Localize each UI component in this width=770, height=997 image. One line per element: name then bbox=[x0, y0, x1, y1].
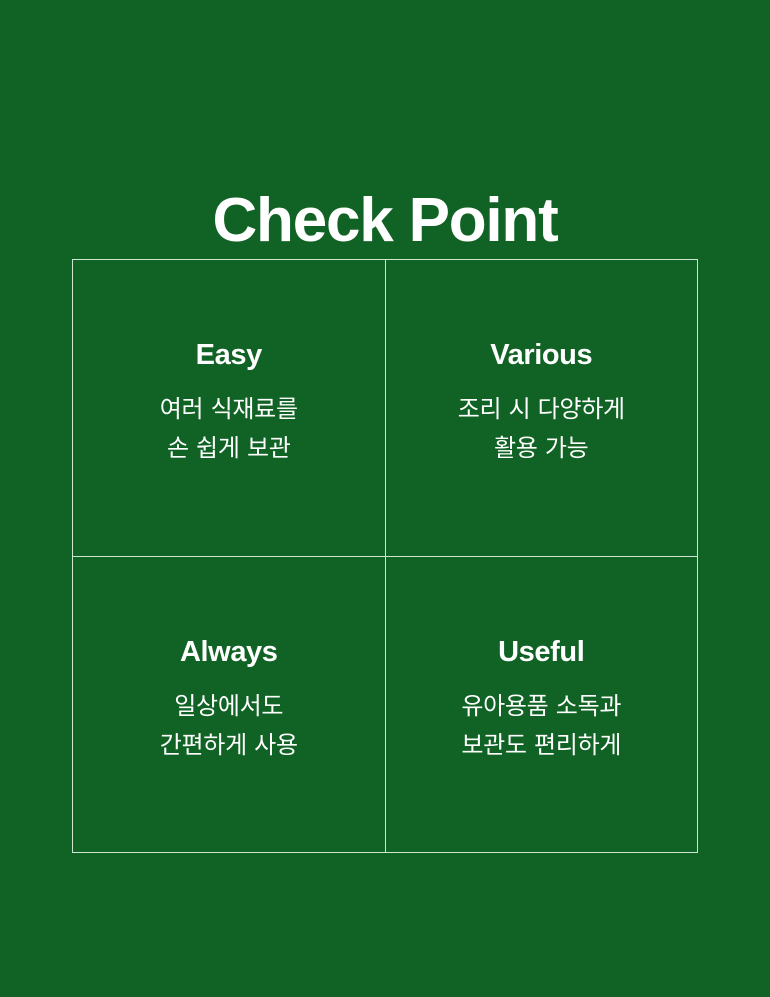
check-point-page: Check Point Easy 여러 식재료를 손 쉽게 보관 Various… bbox=[0, 0, 770, 997]
cell-body-easy: 여러 식재료를 손 쉽게 보관 bbox=[160, 390, 298, 468]
cell-body-various: 조리 시 다양하게 활용 가능 bbox=[458, 390, 625, 468]
cell-body-line: 보관도 편리하게 bbox=[461, 726, 621, 765]
check-point-grid: Easy 여러 식재료를 손 쉽게 보관 Various 조리 시 다양하게 활… bbox=[72, 259, 698, 853]
cell-heading-easy: Easy bbox=[196, 338, 262, 372]
cell-body-line: 활용 가능 bbox=[458, 429, 625, 468]
cell-body-line: 조리 시 다양하게 bbox=[458, 390, 625, 429]
cell-body-useful: 유아용품 소독과 보관도 편리하게 bbox=[461, 687, 621, 765]
cell-heading-useful: Useful bbox=[498, 635, 584, 669]
page-title: Check Point bbox=[0, 184, 770, 258]
cell-body-line: 여러 식재료를 bbox=[160, 390, 298, 429]
cell-heading-always: Always bbox=[180, 635, 278, 669]
cell-body-line: 간편하게 사용 bbox=[160, 726, 298, 765]
grid-cell-useful: Useful 유아용품 소독과 보관도 편리하게 bbox=[386, 557, 699, 854]
grid-cell-various: Various 조리 시 다양하게 활용 가능 bbox=[386, 260, 699, 557]
cell-body-line: 손 쉽게 보관 bbox=[160, 429, 298, 468]
grid-cell-easy: Easy 여러 식재료를 손 쉽게 보관 bbox=[73, 260, 386, 557]
cell-heading-various: Various bbox=[490, 338, 592, 372]
cell-body-line: 일상에서도 bbox=[160, 687, 298, 726]
cell-body-line: 유아용품 소독과 bbox=[461, 687, 621, 726]
grid-cell-always: Always 일상에서도 간편하게 사용 bbox=[73, 557, 386, 854]
cell-body-always: 일상에서도 간편하게 사용 bbox=[160, 687, 298, 765]
